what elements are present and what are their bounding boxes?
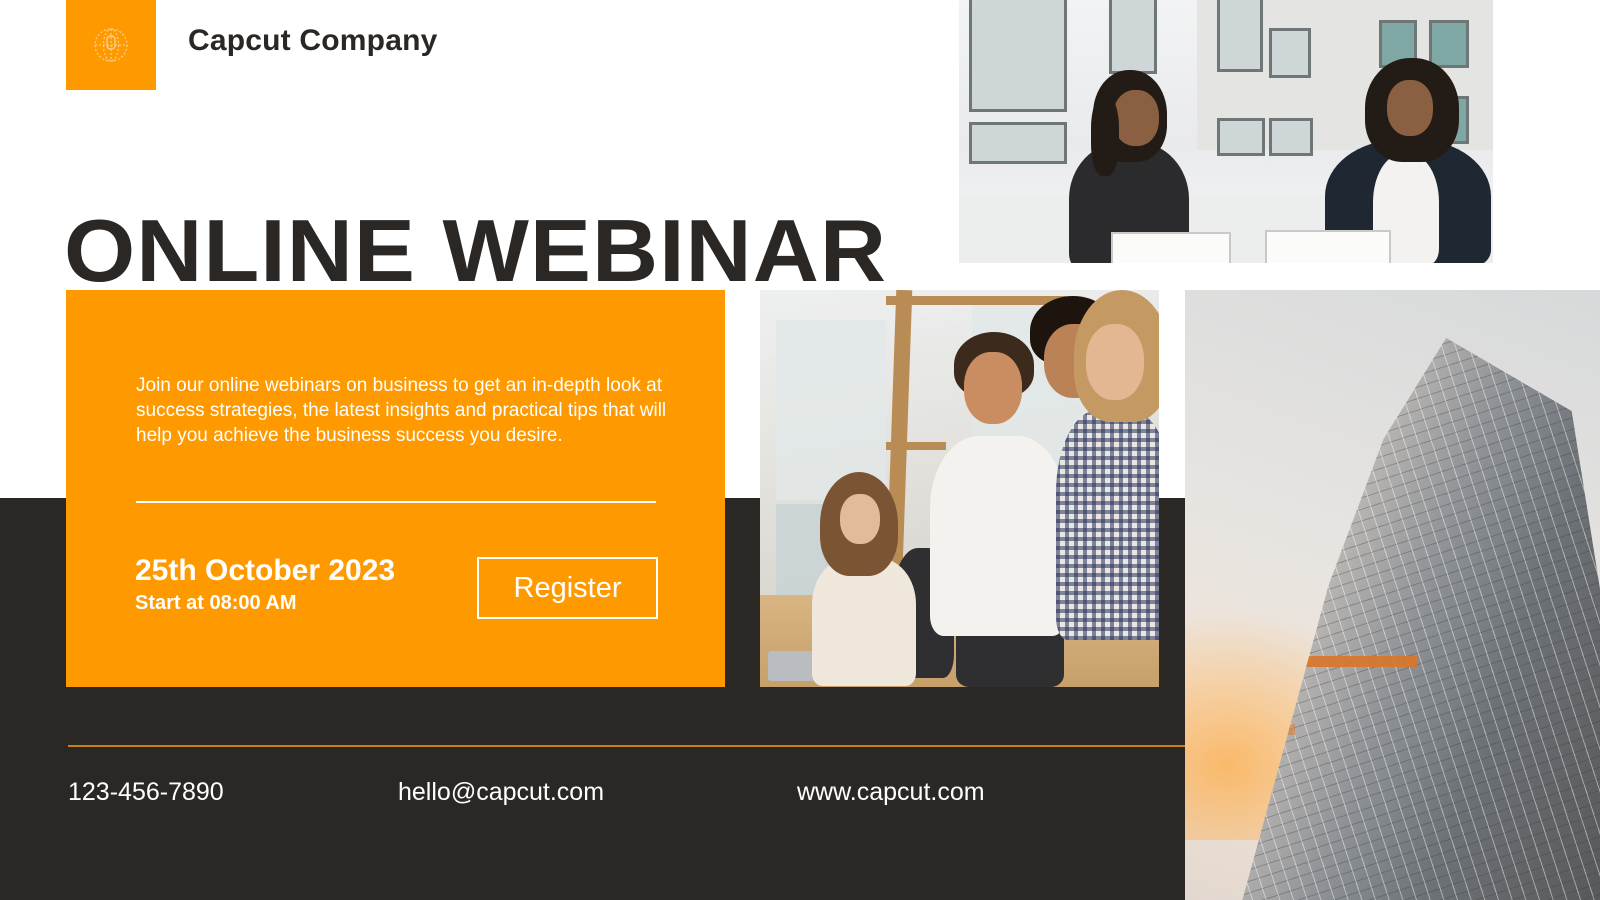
logo-badge [66,0,156,90]
footer-divider [68,745,1185,747]
card-divider [136,501,656,503]
contact-phone[interactable]: 123-456-7890 [68,778,224,807]
event-time: Start at 08:00 AM [135,592,297,615]
register-button[interactable]: Register [477,557,658,619]
contact-website[interactable]: www.capcut.com [797,778,985,807]
contact-email[interactable]: hello@capcut.com [398,778,604,807]
details-card: Join our online webinars on business to … [66,290,725,687]
meeting-photo [959,0,1493,263]
page-title: ONLINE WEBINAR [64,207,887,295]
globe-icon [88,22,134,68]
card-description: Join our online webinars on business to … [136,373,670,448]
skyscraper-photo [1185,290,1600,900]
team-photo [760,290,1159,687]
company-name: Capcut Company [188,24,438,58]
event-date: 25th October 2023 [135,554,395,588]
